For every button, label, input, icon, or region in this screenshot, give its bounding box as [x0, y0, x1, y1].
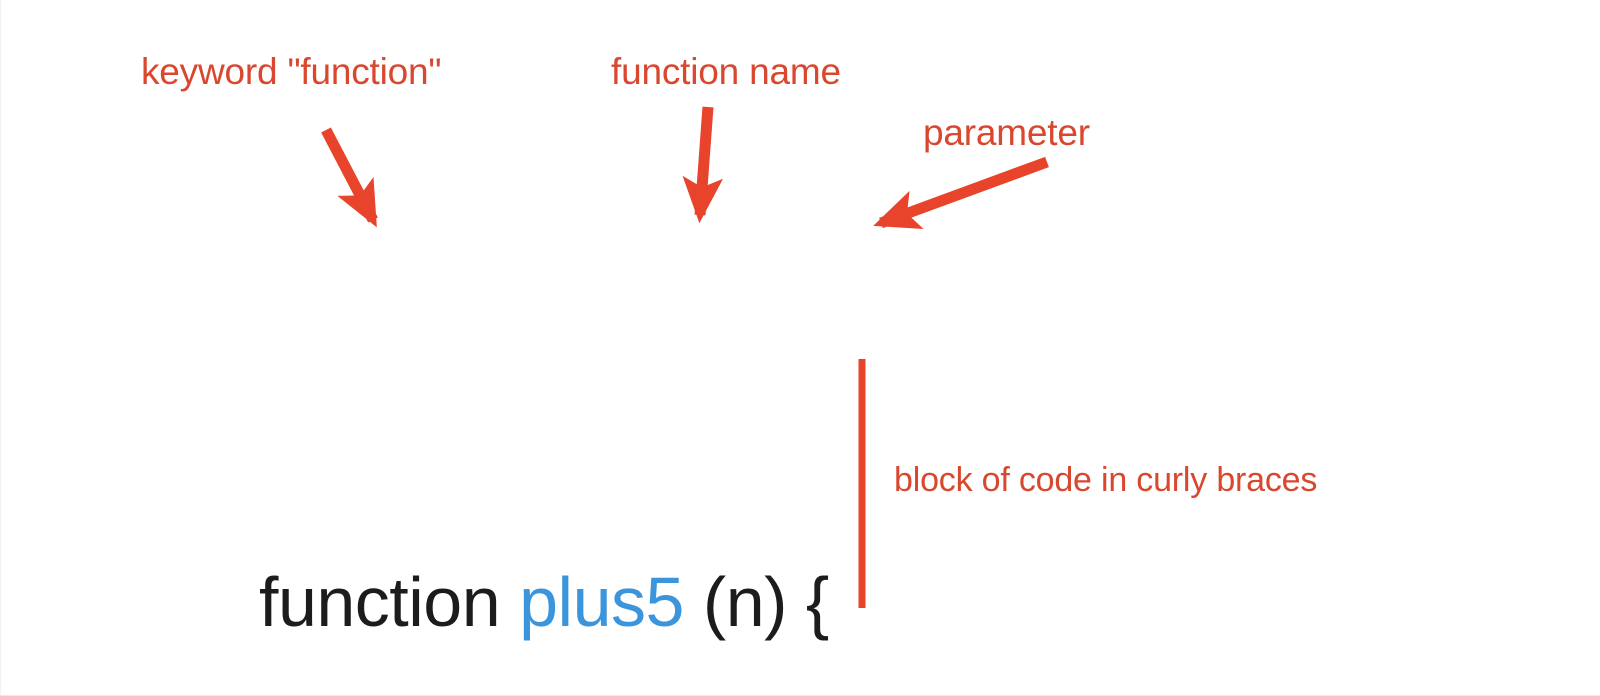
function-keyword-token: function: [259, 563, 519, 641]
annotation-label-keyword: keyword "function": [141, 53, 441, 90]
arrow-function-name-icon: [700, 107, 708, 215]
parameter-token: (n) {: [684, 563, 829, 641]
arrow-parameter-icon: [881, 162, 1047, 223]
code-line-1: function plus5 (n) {: [259, 550, 829, 654]
code-snippet: function plus5 (n) { let ans = n + 5 ret…: [259, 238, 829, 696]
annotation-label-code-block: block of code in curly braces: [894, 463, 1317, 497]
function-name-token: plus5: [519, 563, 684, 641]
annotation-label-function-name: function name: [611, 53, 841, 90]
diagram-canvas: keyword "function" function name paramet…: [0, 0, 1600, 696]
annotation-label-parameter: parameter: [923, 114, 1090, 151]
arrow-keyword-icon: [326, 130, 373, 220]
